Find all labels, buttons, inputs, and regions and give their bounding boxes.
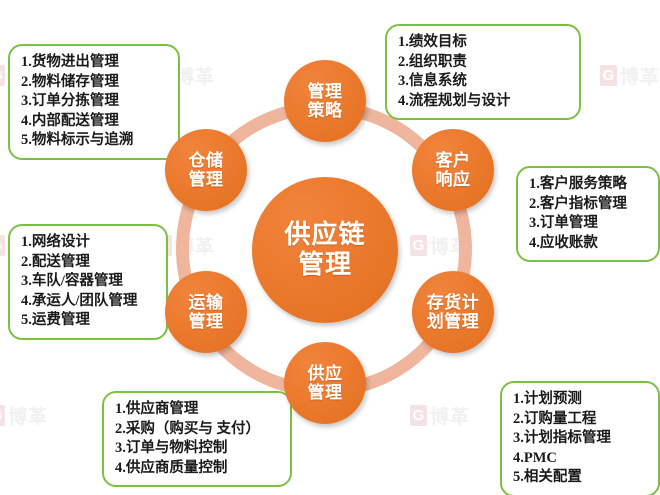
node-label-line1: 仓储 — [189, 151, 224, 170]
detail-item: 2.配送管理 — [21, 253, 157, 273]
detail-item: 3.车队/容器管理 — [21, 272, 157, 292]
center-node-label-line1: 供应链 — [284, 220, 365, 250]
detail-item: 4.流程规划与设计 — [398, 92, 570, 112]
detail-box-customer-response: 1.客户服务策略 2.客户指标管理 3.订单管理 4.应收账款 — [516, 166, 660, 262]
detail-box-inventory-planning-management: 1.计划预测 2.订购量工程 3.计划指标管理 4.PMC 5.相关配置 — [500, 381, 660, 495]
center-node-supply-chain-management[interactable]: 供应链 管理 — [252, 177, 398, 323]
watermark-tile: G 博革 — [0, 402, 48, 429]
detail-item: 1.客户服务策略 — [529, 175, 649, 195]
detail-item: 4.承运人/团队管理 — [21, 292, 157, 312]
center-node-label-line2: 管理 — [298, 250, 352, 280]
detail-item: 1.计划预测 — [513, 390, 649, 410]
detail-item: 2.组织职责 — [398, 53, 570, 73]
node-label-line1: 运输 — [189, 293, 224, 312]
detail-box-warehouse-management: 1.货物进出管理 2.物料储存管理 3.订单分拣管理 4.内部配送管理 5.物料… — [8, 44, 180, 160]
node-label-line1: 管理 — [308, 82, 343, 101]
node-label-line2: 管理 — [308, 383, 343, 402]
node-label-line2: 管理 — [189, 170, 224, 189]
watermark-logo-icon: G — [0, 235, 5, 256]
node-label-line1: 客户 — [436, 151, 471, 170]
detail-item: 5.物料标示与追溯 — [21, 131, 169, 151]
detail-item: 2.采购（购买与 支付） — [115, 420, 281, 440]
detail-item: 4.供应商质量控制 — [115, 459, 281, 479]
node-transport-management[interactable]: 运输 管理 — [165, 271, 247, 353]
node-customer-response[interactable]: 客户 响应 — [412, 129, 494, 211]
watermark-text: 博革 — [430, 402, 470, 429]
detail-item: 2.物料储存管理 — [21, 73, 169, 93]
node-label-line2: 管理 — [189, 312, 224, 331]
node-label-line1: 存货计 — [427, 293, 480, 312]
detail-item: 3.订单分拣管理 — [21, 92, 169, 112]
detail-item: 4.应收账款 — [529, 234, 649, 254]
watermark-logo-icon: G — [410, 405, 427, 426]
node-management-strategy[interactable]: 管理 策略 — [284, 60, 366, 142]
watermark-text: 博革 — [8, 402, 48, 429]
detail-box-management-strategy: 1.绩效目标 2.组织职责 3.信息系统 4.流程规划与设计 — [385, 24, 581, 120]
detail-item: 4.PMC — [513, 449, 649, 469]
detail-item: 1.供应商管理 — [115, 400, 281, 420]
detail-item: 3.订单与物料控制 — [115, 439, 281, 459]
detail-item: 1.网络设计 — [21, 233, 157, 253]
diagram-canvas: G 博革 G 博革 G 博革 G 博革 G 博革 G 博革 G 博革 G 博革 — [0, 0, 660, 495]
detail-box-transport-management: 1.网络设计 2.配送管理 3.车队/容器管理 4.承运人/团队管理 5.运费管… — [8, 224, 168, 340]
node-label-line1: 供应 — [308, 364, 343, 383]
detail-item: 3.订单管理 — [529, 214, 649, 234]
detail-item: 1.货物进出管理 — [21, 53, 169, 73]
detail-item: 3.信息系统 — [398, 72, 570, 92]
detail-item: 3.计划指标管理 — [513, 429, 649, 449]
node-label-line2: 响应 — [436, 170, 471, 189]
detail-item: 4.内部配送管理 — [21, 112, 169, 132]
watermark-logo-icon: G — [600, 65, 617, 86]
detail-item: 2.订购量工程 — [513, 410, 649, 430]
detail-item: 5.相关配置 — [513, 468, 649, 488]
detail-item: 1.绩效目标 — [398, 33, 570, 53]
detail-item: 2.客户指标管理 — [529, 195, 649, 215]
watermark-logo-icon: G — [0, 65, 5, 86]
watermark-text: 博革 — [175, 62, 215, 89]
node-inventory-planning-management[interactable]: 存货计 划管理 — [412, 271, 494, 353]
watermark-tile: G 博革 — [410, 402, 470, 429]
detail-box-supply-management: 1.供应商管理 2.采购（购买与 支付） 3.订单与物料控制 4.供应商质量控制 — [102, 391, 292, 487]
node-label-line2: 划管理 — [427, 312, 480, 331]
detail-item: 5.运费管理 — [21, 311, 157, 331]
node-supply-management[interactable]: 供应 管理 — [284, 342, 366, 424]
watermark-tile: G 博革 — [600, 62, 660, 89]
watermark-logo-icon: G — [0, 405, 5, 426]
node-warehouse-management[interactable]: 仓储 管理 — [165, 129, 247, 211]
node-label-line2: 策略 — [308, 101, 343, 120]
watermark-text: 博革 — [620, 62, 660, 89]
